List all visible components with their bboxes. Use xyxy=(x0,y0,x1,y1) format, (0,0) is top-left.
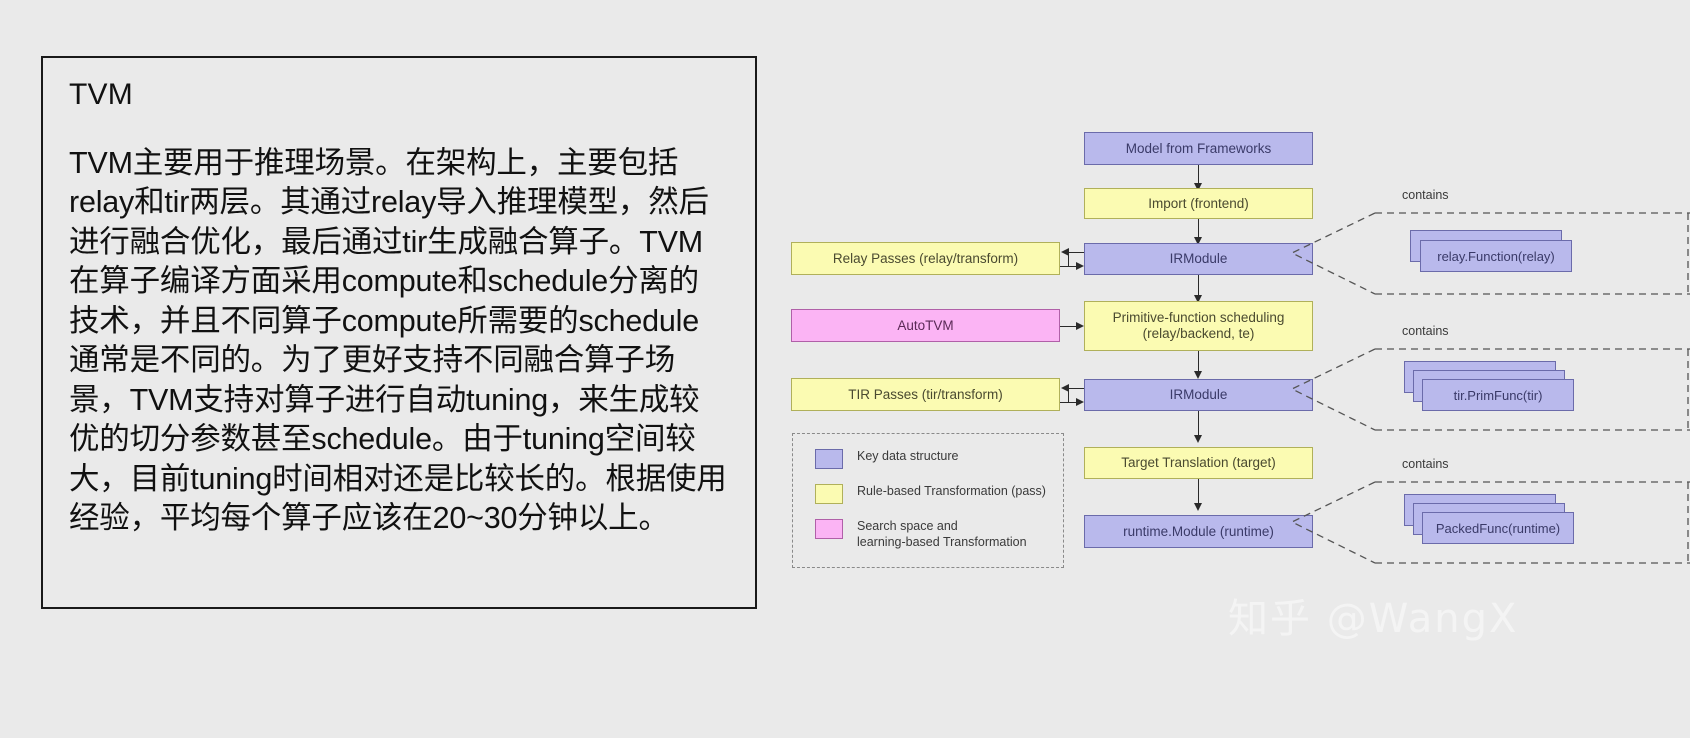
legend-swatch-purple-icon xyxy=(815,449,843,469)
contains-label: contains xyxy=(1402,324,1449,338)
node-irmodule-tir[interactable]: IRModule xyxy=(1084,379,1313,411)
legend-swatch-yellow-icon xyxy=(815,484,843,504)
legend-item-key-data-structure: Key data structure xyxy=(815,448,1063,469)
stacked-item-front[interactable]: PackedFunc(runtime) xyxy=(1422,512,1574,544)
arrow-head-down-icon xyxy=(1194,371,1202,379)
arrow-line xyxy=(1198,165,1199,185)
arrow-head-right-icon xyxy=(1076,322,1084,330)
stacked-item-front[interactable]: relay.Function(relay) xyxy=(1420,240,1572,272)
legend-label: Rule-based Transformation (pass) xyxy=(857,483,1046,499)
node-tir-passes[interactable]: TIR Passes (tir/transform) xyxy=(791,378,1060,411)
arrow-head-right-icon xyxy=(1076,398,1084,406)
stacked-item-label: tir.PrimFunc(tir) xyxy=(1454,388,1543,403)
node-label: Primitive-function scheduling (relay/bac… xyxy=(1113,310,1285,342)
contains-callout-tir-primfunc: contains tir.PrimFunc(tir) xyxy=(1292,324,1690,439)
arrow-line xyxy=(1198,479,1199,505)
node-label: AutoTVM xyxy=(897,318,953,334)
node-label: Relay Passes (relay/transform) xyxy=(833,251,1018,267)
arrow-line xyxy=(1060,326,1077,327)
node-label: Target Translation (target) xyxy=(1121,455,1276,471)
arrow-line xyxy=(1198,219,1199,239)
contains-label: contains xyxy=(1402,457,1449,471)
contains-label: contains xyxy=(1402,188,1449,202)
node-label: TIR Passes (tir/transform) xyxy=(848,387,1003,403)
arrow-line xyxy=(1068,252,1084,253)
tvm-description-panel: TVM TVM主要用于推理场景。在架构上，主要包括relay和tir两层。其通过… xyxy=(41,56,757,609)
node-primitive-function-scheduling[interactable]: Primitive-function scheduling (relay/bac… xyxy=(1084,301,1313,351)
legend-swatch-pink-icon xyxy=(815,519,843,539)
arrow-head-down-icon xyxy=(1194,435,1202,443)
contains-callout-relay-function: contains relay.Function(relay) xyxy=(1292,188,1690,303)
node-runtime-module[interactable]: runtime.Module (runtime) xyxy=(1084,515,1313,548)
arrow-head-right-icon xyxy=(1076,262,1084,270)
watermark: 知乎 @WangX xyxy=(1228,586,1518,644)
arrow-line xyxy=(1068,252,1069,266)
stacked-item-label: relay.Function(relay) xyxy=(1437,249,1555,264)
node-autotvm[interactable]: AutoTVM xyxy=(791,309,1060,342)
node-label: IRModule xyxy=(1170,251,1228,267)
description-text: TVM主要用于推理场景。在架构上，主要包括relay和tir两层。其通过rela… xyxy=(69,144,729,539)
node-label: IRModule xyxy=(1170,387,1228,403)
stacked-item-label: PackedFunc(runtime) xyxy=(1436,521,1560,536)
stacked-item-front[interactable]: tir.PrimFunc(tir) xyxy=(1422,379,1574,411)
legend: Key data structure Rule-based Transforma… xyxy=(792,433,1064,568)
node-label: Import (frontend) xyxy=(1148,196,1249,212)
node-model-from-frameworks[interactable]: Model from Frameworks xyxy=(1084,132,1313,165)
legend-label: Search space and learning-based Transfor… xyxy=(857,518,1027,550)
contains-callout-packedfunc: contains PackedFunc(runtime) xyxy=(1292,457,1690,572)
arrow-line xyxy=(1198,351,1199,373)
node-target-translation[interactable]: Target Translation (target) xyxy=(1084,447,1313,479)
node-label: runtime.Module (runtime) xyxy=(1123,524,1274,540)
node-label: Model from Frameworks xyxy=(1126,141,1272,157)
arrow-line xyxy=(1198,275,1199,297)
legend-item-rule-based-transformation: Rule-based Transformation (pass) xyxy=(815,483,1063,504)
arrow-head-down-icon xyxy=(1194,503,1202,511)
arrow-line xyxy=(1068,388,1084,389)
node-irmodule-relay[interactable]: IRModule xyxy=(1084,243,1313,275)
node-relay-passes[interactable]: Relay Passes (relay/transform) xyxy=(791,242,1060,275)
legend-label: Key data structure xyxy=(857,448,958,464)
page-title: TVM xyxy=(69,80,729,110)
node-import-frontend[interactable]: Import (frontend) xyxy=(1084,188,1313,219)
legend-item-search-space: Search space and learning-based Transfor… xyxy=(815,518,1063,550)
arrow-line xyxy=(1068,388,1069,402)
arrow-line xyxy=(1198,411,1199,437)
